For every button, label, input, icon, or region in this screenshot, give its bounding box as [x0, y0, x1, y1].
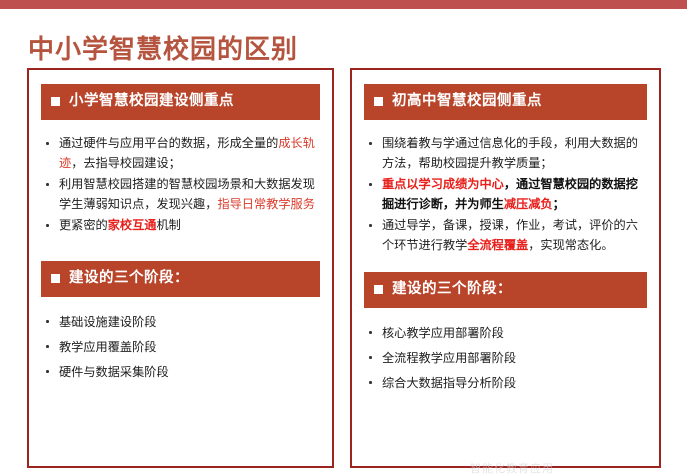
panel-secondary-school: 初高中智慧校园侧重点 围绕着教与学通过信息化的手段，利用大数据的方法，帮助校园提… [350, 68, 661, 468]
square-bullet-icon [374, 285, 383, 294]
panel-primary-school: 小学智慧校园建设侧重点 通过硬件与应用平台的数据，形成全量的成长轨迹，去指导校园… [27, 68, 334, 468]
panel-left-section1-header-label: 小学智慧校园建设侧重点 [69, 92, 234, 111]
square-bullet-icon [374, 97, 383, 106]
list-item-text: 全流程覆盖 [467, 238, 528, 252]
list-item: 全流程教学应用部署阶段 [364, 347, 647, 369]
panel-right-section2-list: 核心教学应用部署阶段全流程教学应用部署阶段综合大数据指导分析阶段 [364, 322, 647, 394]
panel-right-section2-header: 建设的三个阶段： [364, 272, 647, 308]
page-title: 中小学智慧校园的区别 [28, 33, 298, 65]
comparison-panels: 小学智慧校园建设侧重点 通过硬件与应用平台的数据，形成全量的成长轨迹，去指导校园… [0, 68, 687, 470]
list-item-text: 围绕着教与学通过信息化的手段，利用大数据的方法，帮助校园提升教学质量； [382, 136, 638, 170]
panel-left-section2-list: 基础设施建设阶段教学应用覆盖阶段硬件与数据采集阶段 [41, 311, 320, 383]
top-accent-bar [0, 0, 687, 9]
list-item: 重点以学习成绩为中心，通过智慧校园的数据挖掘进行诊断，并为师生减压减负； [364, 174, 647, 214]
list-item-text: 全流程教学应用部署阶段 [382, 351, 516, 365]
list-item: 通过硬件与应用平台的数据，形成全量的成长轨迹，去指导校园建设； [41, 133, 320, 173]
panel-right-section1-header-label: 初高中智慧校园侧重点 [392, 92, 542, 111]
panel-left-section2-header: 建设的三个阶段： [41, 261, 320, 297]
list-item: 更紧密的家校互通机制 [41, 215, 320, 235]
list-item-text: ，实现常态化。 [528, 238, 613, 252]
panel-right-section2-header-label: 建设的三个阶段： [392, 280, 512, 299]
panel-left-section1-header: 小学智慧校园建设侧重点 [41, 84, 320, 120]
list-item: 围绕着教与学通过信息化的手段，利用大数据的方法，帮助校园提升教学质量； [364, 133, 647, 173]
list-item-text: 重点以学习成绩为中心 [382, 177, 504, 191]
list-item-text: ； [553, 197, 565, 211]
list-item-text: 综合大数据指导分析阶段 [382, 376, 516, 390]
list-item: 硬件与数据采集阶段 [41, 361, 320, 383]
list-item-text: 硬件与数据采集阶段 [59, 365, 169, 379]
watermark: 智能化教育应用 [470, 460, 554, 476]
list-item: 综合大数据指导分析阶段 [364, 372, 647, 394]
square-bullet-icon [51, 97, 60, 106]
list-item-text: 通过硬件与应用平台的数据，形成全量的 [59, 136, 278, 150]
list-item-text: 家校互通 [108, 218, 157, 232]
square-bullet-icon [51, 274, 60, 283]
list-item-text: 核心教学应用部署阶段 [382, 326, 504, 340]
list-item: 通过导学，备课，授课，作业，考试，评价的六个环节进行教学全流程覆盖，实现常态化。 [364, 215, 647, 255]
list-item-text: 更紧密的 [59, 218, 108, 232]
panel-right-section1-list: 围绕着教与学通过信息化的手段，利用大数据的方法，帮助校园提升教学质量；重点以学习… [364, 133, 647, 255]
list-item: 核心教学应用部署阶段 [364, 322, 647, 344]
list-item: 基础设施建设阶段 [41, 311, 320, 333]
panel-right-section1-header: 初高中智慧校园侧重点 [364, 84, 647, 120]
panel-left-section1-list: 通过硬件与应用平台的数据，形成全量的成长轨迹，去指导校园建设；利用智慧校园搭建的… [41, 133, 320, 235]
list-item-text: 减压减负 [504, 197, 553, 211]
list-item: 教学应用覆盖阶段 [41, 336, 320, 358]
list-item: 利用智慧校园搭建的智慧校园场景和大数据发现学生薄弱知识点，发现兴趣，指导日常教学… [41, 174, 320, 214]
list-item-text: 教学应用覆盖阶段 [59, 340, 157, 354]
list-item-text: 指导日常教学服务 [217, 197, 315, 211]
list-item-text: 基础设施建设阶段 [59, 315, 157, 329]
panel-left-section2-header-label: 建设的三个阶段： [69, 269, 189, 288]
list-item-text: 机制 [157, 218, 181, 232]
list-item-text: ，去指导校园建设； [71, 156, 181, 170]
